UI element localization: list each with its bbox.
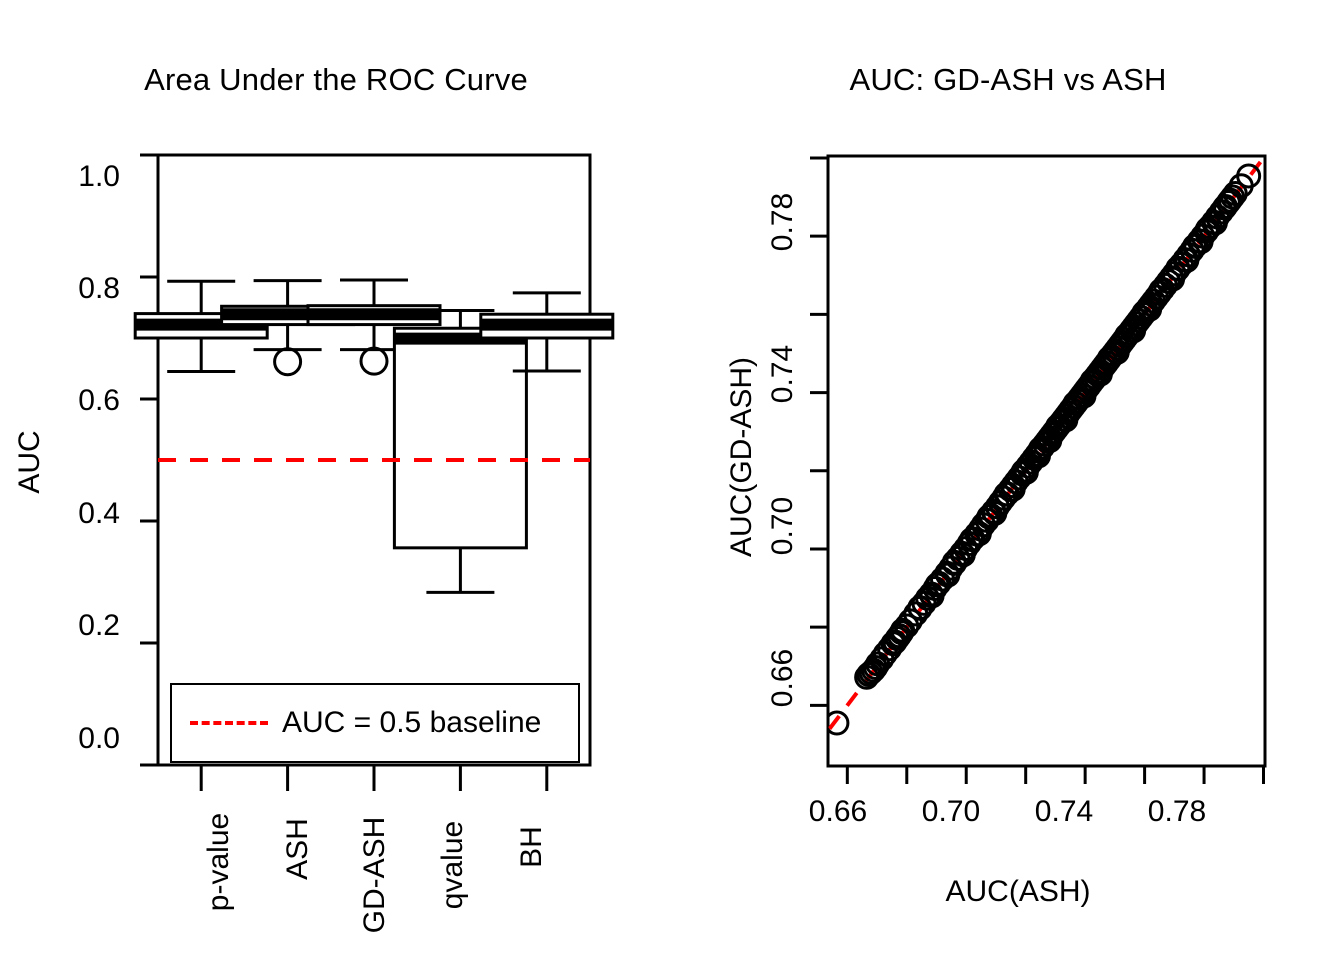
- boxplot-legend: AUC = 0.5 baseline: [170, 683, 580, 763]
- scatter-panel: AUC: GD-ASH vs ASH 0.78 0.74 0.70 0.66 A…: [672, 0, 1344, 960]
- boxplot-panel: Area Under the ROC Curve 1.0 0.8 0.6 0.4…: [0, 0, 672, 960]
- box-outlier: [361, 348, 387, 374]
- boxplot-box-p-value: [135, 281, 267, 371]
- boxplot-box-qvalue: [394, 311, 526, 593]
- box-iqr: [394, 328, 526, 548]
- legend-dashed-line-key: [190, 721, 268, 725]
- figure-canvas: Area Under the ROC Curve 1.0 0.8 0.6 0.4…: [0, 0, 1344, 960]
- scatter-canvas: [672, 0, 1344, 960]
- box-outlier: [275, 349, 301, 375]
- boxplot-canvas: [0, 0, 672, 960]
- legend-label-baseline: AUC = 0.5 baseline: [282, 706, 541, 740]
